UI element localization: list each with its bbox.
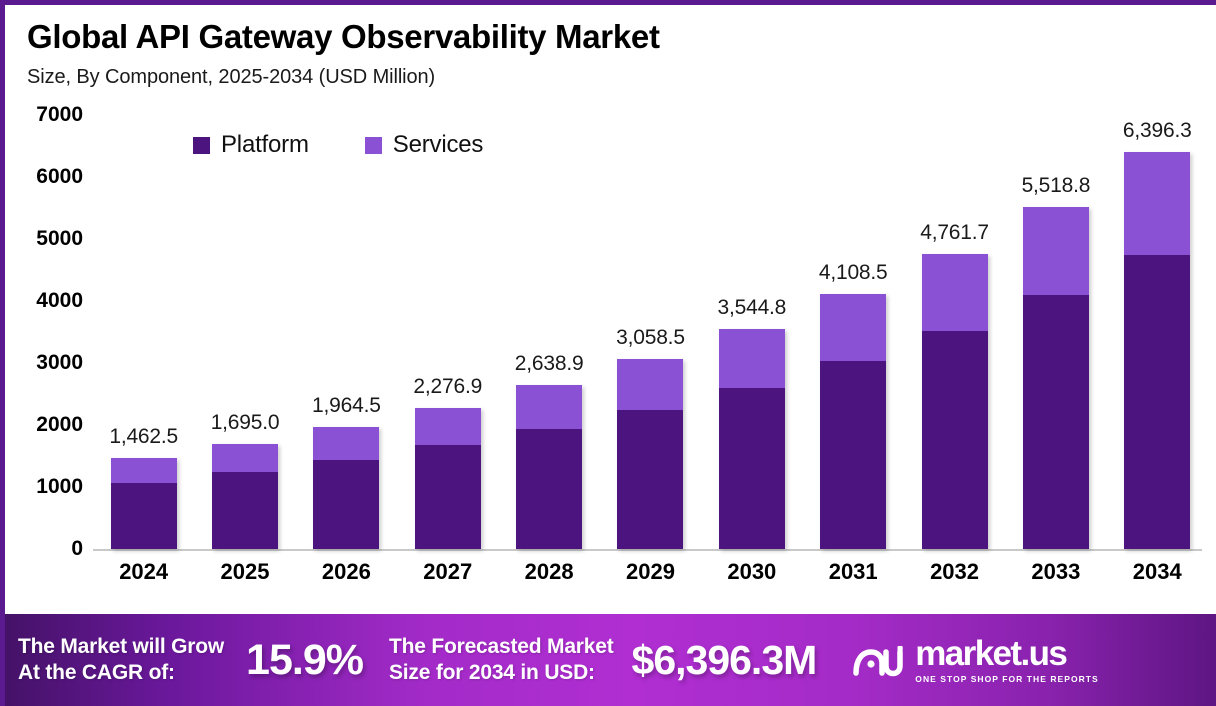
bar-stack[interactable] <box>313 427 379 549</box>
bar-segment-platform[interactable] <box>212 472 278 549</box>
bar-stack[interactable] <box>1023 207 1089 549</box>
bar-total-label: 4,108.5 <box>819 261 888 285</box>
bar-segment-platform[interactable] <box>111 483 177 549</box>
x-axis-tick: 2025 <box>194 559 295 585</box>
x-axis-tick: 2026 <box>296 559 397 585</box>
legend-swatch-icon <box>193 137 210 154</box>
bar-column[interactable]: 1,462.5 <box>93 115 194 549</box>
bars-container: 1,462.51,695.01,964.52,276.92,638.93,058… <box>93 115 1208 549</box>
bar-column[interactable]: 3,544.8 <box>701 115 802 549</box>
x-axis-tick: 2028 <box>498 559 599 585</box>
y-axis-tick: 6000 <box>36 165 83 189</box>
legend-label: Services <box>393 131 483 159</box>
bar-column[interactable]: 3,058.5 <box>600 115 701 549</box>
chart-infographic: Global API Gateway Observability Market … <box>0 0 1216 706</box>
bar-total-label: 1,695.0 <box>211 411 280 435</box>
x-axis-tick: 2032 <box>904 559 1005 585</box>
bar-stack[interactable] <box>415 408 481 549</box>
bar-segment-platform[interactable] <box>415 445 481 549</box>
bar-segment-services[interactable] <box>719 329 785 387</box>
y-axis-tick: 2000 <box>36 413 83 437</box>
cagr-caption-line1: The Market will Grow <box>18 634 224 660</box>
y-axis-tick: 5000 <box>36 227 83 251</box>
forecast-caption-line2: Size for 2034 in USD: <box>389 660 614 686</box>
bar-segment-services[interactable] <box>111 458 177 482</box>
bar-stack[interactable] <box>617 359 683 549</box>
cagr-block: The Market will Grow At the CAGR of: 15.… <box>18 634 363 685</box>
bar-column[interactable]: 2,638.9 <box>498 115 599 549</box>
bar-segment-services[interactable] <box>313 427 379 460</box>
legend-item[interactable]: Platform <box>193 131 309 159</box>
bar-column[interactable]: 4,108.5 <box>803 115 904 549</box>
bar-column[interactable]: 5,518.8 <box>1005 115 1106 549</box>
forecast-size-block: The Forecasted Market Size for 2034 in U… <box>389 634 816 685</box>
x-axis-tick: 2034 <box>1107 559 1208 585</box>
page-subtitle: Size, By Component, 2025-2034 (USD Milli… <box>27 66 1216 89</box>
bottom-banner: The Market will Grow At the CAGR of: 15.… <box>0 614 1216 706</box>
logo-wordmark: market.us <box>915 636 1098 671</box>
bar-segment-platform[interactable] <box>617 410 683 549</box>
cagr-caption: The Market will Grow At the CAGR of: <box>18 634 224 685</box>
forecast-caption-line1: The Forecasted Market <box>389 634 614 660</box>
bar-segment-services[interactable] <box>516 385 582 428</box>
bar-segment-services[interactable] <box>922 254 988 331</box>
bar-segment-services[interactable] <box>617 359 683 409</box>
x-axis-tick: 2031 <box>803 559 904 585</box>
page-title: Global API Gateway Observability Market <box>27 19 1216 56</box>
legend-item[interactable]: Services <box>365 131 483 159</box>
bar-total-label: 3,058.5 <box>616 326 685 350</box>
bar-total-label: 2,276.9 <box>413 375 482 399</box>
x-axis-tick: 2024 <box>93 559 194 585</box>
bar-total-label: 1,462.5 <box>109 425 178 449</box>
y-axis-tick: 4000 <box>36 289 83 313</box>
bar-stack[interactable] <box>1124 152 1190 549</box>
bar-total-label: 6,396.3 <box>1123 119 1192 143</box>
bar-segment-platform[interactable] <box>820 361 886 549</box>
cagr-caption-line2: At the CAGR of: <box>18 660 224 686</box>
bar-segment-platform[interactable] <box>1124 255 1190 549</box>
bar-stack[interactable] <box>516 385 582 549</box>
plot-area: 01000200030004000500060007000 1,462.51,6… <box>5 115 1216 605</box>
bar-segment-services[interactable] <box>1124 152 1190 255</box>
forecast-size-value: $6,396.3M <box>632 637 817 684</box>
y-axis: 01000200030004000500060007000 <box>5 115 93 560</box>
bar-total-label: 4,761.7 <box>920 221 989 245</box>
y-axis-tick: 3000 <box>36 351 83 375</box>
logo-text: market.us ONE STOP SHOP FOR THE REPORTS <box>915 636 1098 684</box>
bar-column[interactable]: 6,396.3 <box>1107 115 1208 549</box>
bar-stack[interactable] <box>719 329 785 549</box>
bar-stack[interactable] <box>922 254 988 549</box>
bar-stack[interactable] <box>212 444 278 549</box>
bar-total-label: 2,638.9 <box>515 352 584 376</box>
bar-total-label: 1,964.5 <box>312 394 381 418</box>
x-axis-tick: 2029 <box>600 559 701 585</box>
x-axis-tick: 2027 <box>397 559 498 585</box>
market-us-logo-icon <box>852 640 906 680</box>
bar-segment-services[interactable] <box>415 408 481 446</box>
bar-segment-services[interactable] <box>820 294 886 361</box>
y-axis-tick: 0 <box>71 537 83 561</box>
bar-total-label: 5,518.8 <box>1022 174 1091 198</box>
bar-segment-platform[interactable] <box>516 429 582 549</box>
x-axis-tick: 2030 <box>701 559 802 585</box>
bar-stack[interactable] <box>820 294 886 549</box>
y-axis-tick: 7000 <box>36 103 83 127</box>
x-axis-tick: 2033 <box>1005 559 1106 585</box>
legend-label: Platform <box>221 131 309 159</box>
x-axis: 2024202520262027202820292030203120322033… <box>93 559 1208 585</box>
bar-column[interactable]: 1,964.5 <box>296 115 397 549</box>
bar-column[interactable]: 4,761.7 <box>904 115 1005 549</box>
bar-segment-services[interactable] <box>212 444 278 472</box>
y-axis-tick: 1000 <box>36 475 83 499</box>
cagr-value: 15.9% <box>246 636 363 685</box>
chart-legend: PlatformServices <box>193 131 483 159</box>
header: Global API Gateway Observability Market … <box>5 5 1216 89</box>
market-us-logo[interactable]: market.us ONE STOP SHOP FOR THE REPORTS <box>852 636 1098 684</box>
bar-total-label: 3,544.8 <box>717 296 786 320</box>
forecast-size-caption: The Forecasted Market Size for 2034 in U… <box>389 634 614 685</box>
x-axis-baseline <box>93 549 1202 551</box>
bar-segment-platform[interactable] <box>922 331 988 549</box>
logo-tagline: ONE STOP SHOP FOR THE REPORTS <box>915 674 1098 684</box>
bar-column[interactable]: 2,276.9 <box>397 115 498 549</box>
bar-segment-services[interactable] <box>1023 207 1089 296</box>
bar-stack[interactable] <box>111 458 177 549</box>
bar-column[interactable]: 1,695.0 <box>194 115 295 549</box>
bar-segment-platform[interactable] <box>719 388 785 550</box>
legend-swatch-icon <box>365 137 382 154</box>
bar-segment-platform[interactable] <box>1023 295 1089 549</box>
bar-segment-platform[interactable] <box>313 460 379 549</box>
